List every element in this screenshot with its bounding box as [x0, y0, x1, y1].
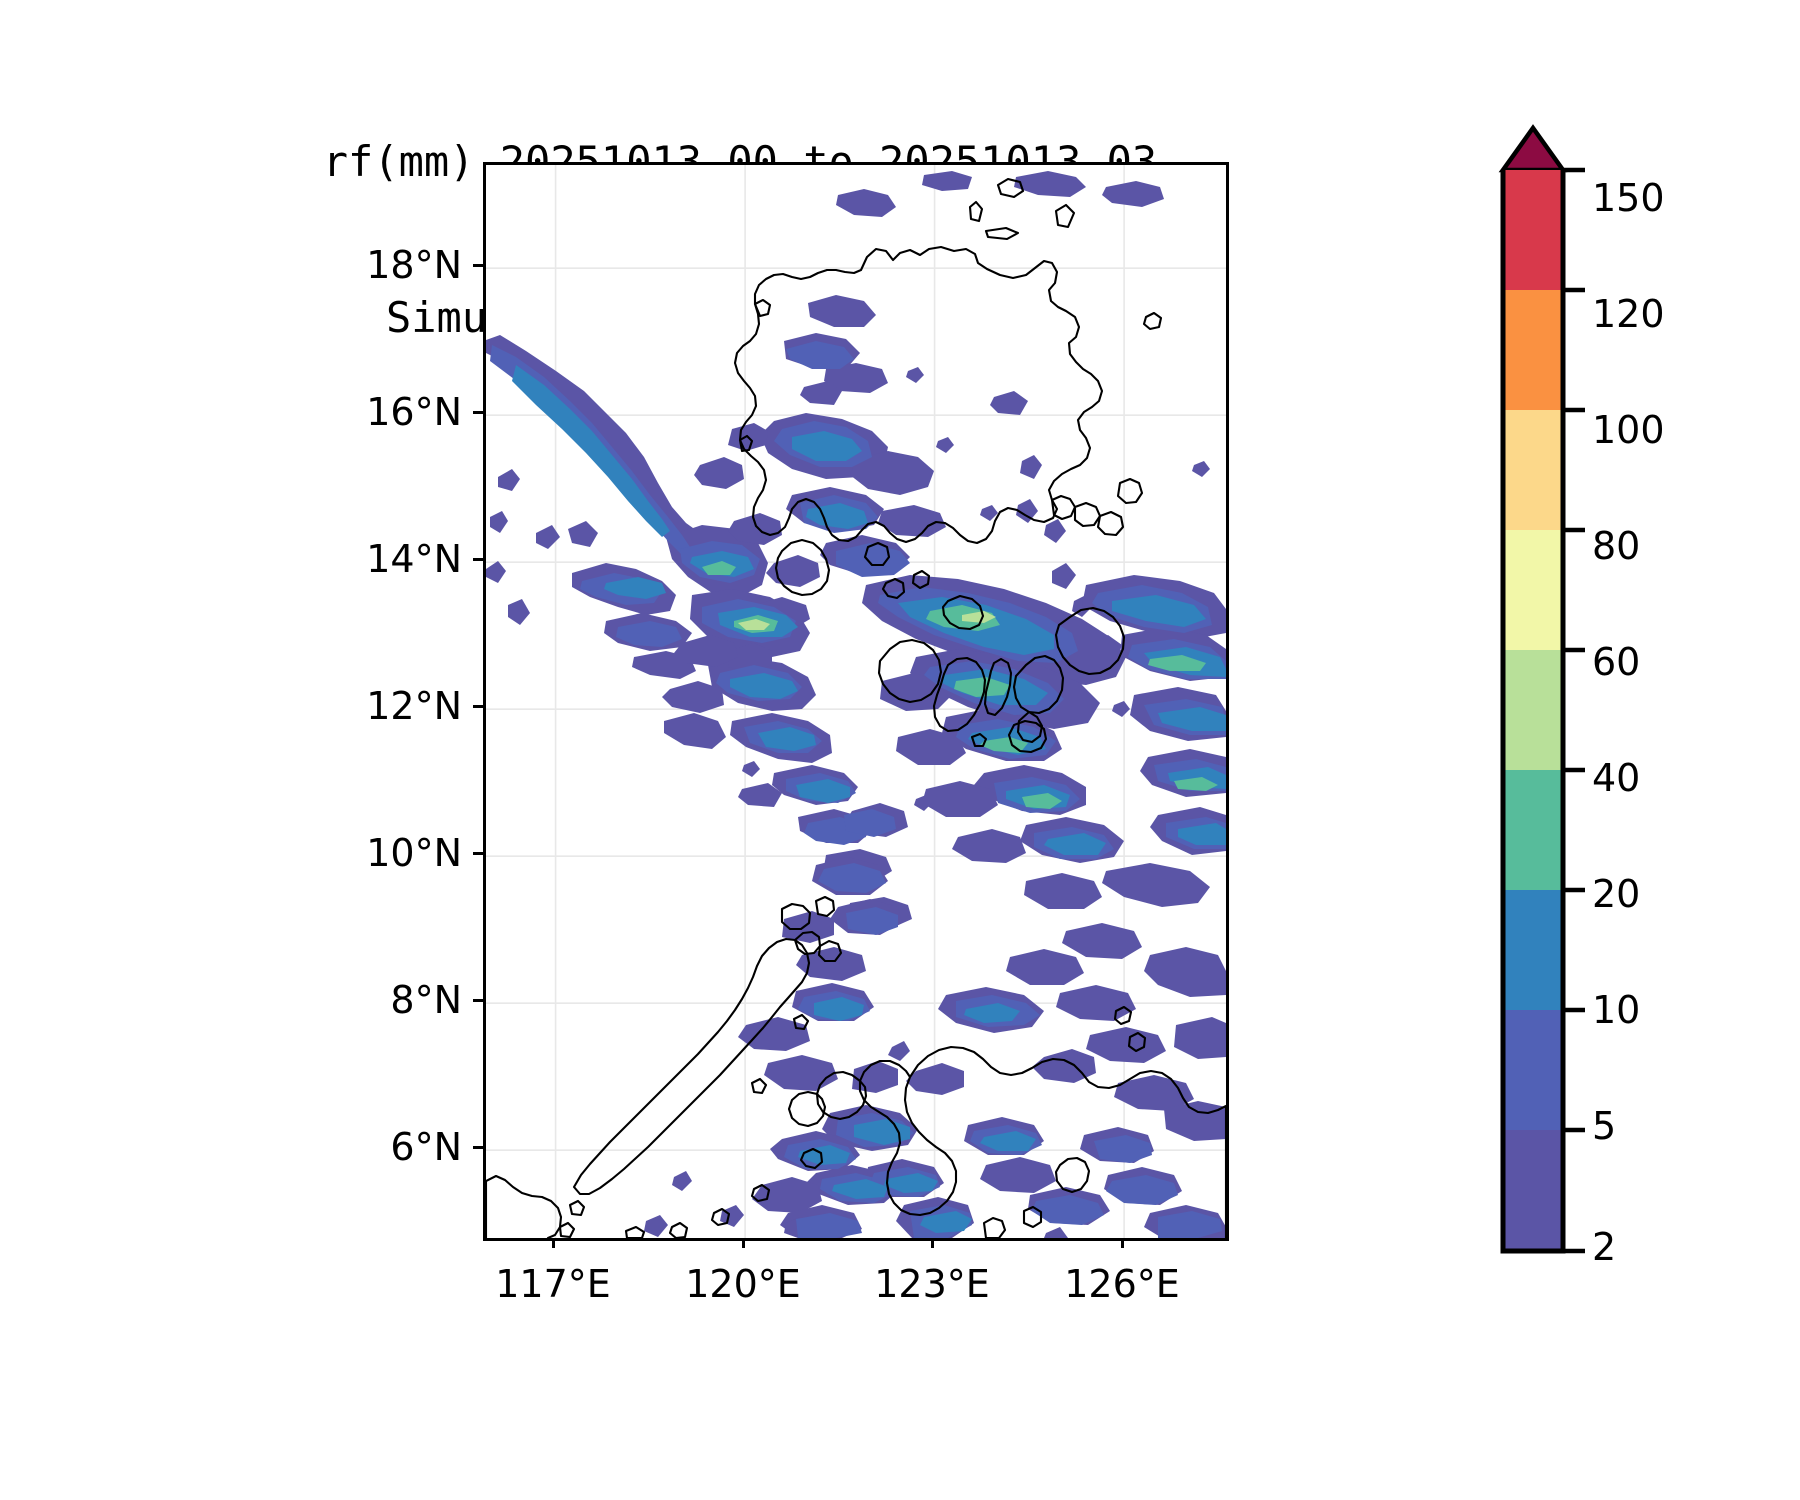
colorbar-label-5: 5 — [1592, 1104, 1616, 1148]
x-axis-label-117: 117°E — [495, 1262, 611, 1306]
x-tick-126 — [1121, 1238, 1124, 1248]
colorbar-label-80: 80 — [1592, 524, 1640, 568]
colorbar-label-20: 20 — [1592, 872, 1640, 916]
colorbar-label-150: 150 — [1592, 176, 1665, 220]
y-axis-label-16: 16°N — [366, 390, 462, 434]
y-tick-18 — [473, 264, 483, 267]
y-axis-label-6: 6°N — [390, 1125, 462, 1169]
colorbar-label-60: 60 — [1592, 640, 1640, 684]
colorbar-label-40: 40 — [1592, 756, 1640, 800]
y-axis-label-18: 18°N — [366, 243, 462, 287]
colorbar-label-120: 120 — [1592, 292, 1665, 336]
x-tick-120 — [742, 1238, 745, 1248]
colorbar-label-100: 100 — [1592, 408, 1665, 452]
y-axis-label-12: 12°N — [366, 684, 462, 728]
y-tick-12 — [473, 705, 483, 708]
y-axis-label-8: 8°N — [390, 978, 462, 1022]
colorbar — [1503, 170, 1563, 1255]
x-axis-label-120: 120°E — [685, 1262, 801, 1306]
y-tick-8 — [473, 999, 483, 1002]
x-axis-label-126: 126°E — [1064, 1262, 1180, 1306]
colorbar-label-2: 2 — [1592, 1225, 1616, 1269]
x-tick-123 — [931, 1238, 934, 1248]
x-tick-117 — [552, 1238, 555, 1248]
map-plot-area — [483, 162, 1229, 1241]
y-axis-label-14: 14°N — [366, 537, 462, 581]
colorbar-label-10: 10 — [1592, 988, 1640, 1032]
y-axis-label-10: 10°N — [366, 831, 462, 875]
x-axis-label-123: 123°E — [874, 1262, 990, 1306]
y-tick-14 — [473, 558, 483, 561]
y-tick-16 — [473, 411, 483, 414]
map-canvas — [486, 165, 1226, 1238]
y-tick-6 — [473, 1146, 483, 1149]
y-tick-10 — [473, 852, 483, 855]
rainfall-forecast-figure: rf(mm) 20251013_00 to 20251013_03 Simula… — [0, 0, 1800, 1500]
